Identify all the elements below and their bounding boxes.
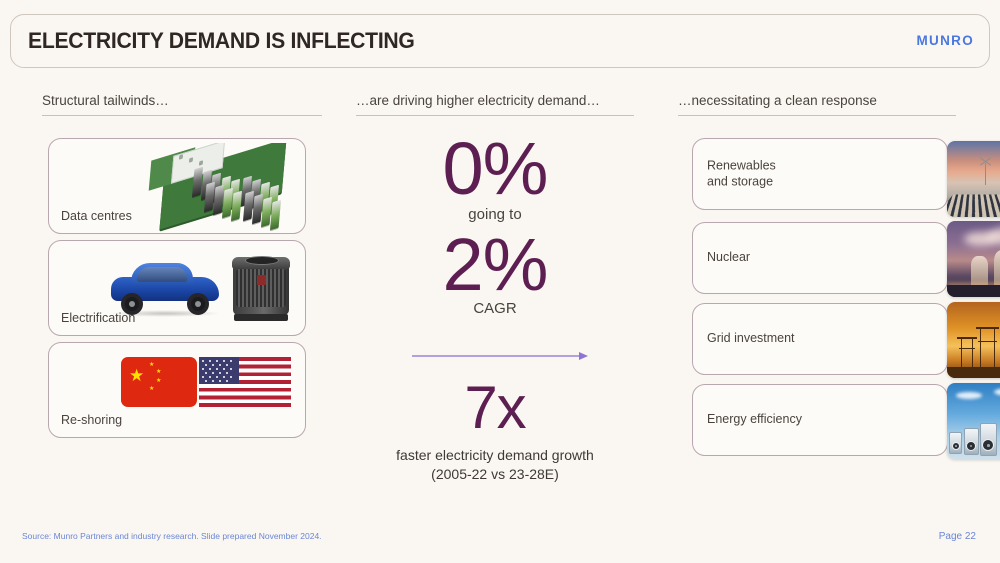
card-label: Grid investment xyxy=(707,331,795,347)
card-label: Re-shoring xyxy=(61,413,122,429)
column-heading-clean-response: …necessitating a clean response xyxy=(678,93,956,116)
caption-line-2: (2005-22 vs 23-28E) xyxy=(325,465,665,484)
solar-wind-farm-photo xyxy=(947,141,1000,217)
column-heading-electricity-demand: …are driving higher electricity demand… xyxy=(356,93,634,116)
page-title: ELECTRICITY DEMAND IS INFLECTING xyxy=(28,28,415,54)
footer-source: Source: Munro Partners and industry rese… xyxy=(22,531,322,541)
transmission-grid-photo xyxy=(947,302,1000,378)
usa-flag-icon xyxy=(199,357,291,407)
stat-two-percent: 2% xyxy=(356,228,634,302)
card-label: Renewables and storage xyxy=(707,158,776,189)
stat-caption: faster electricity demand growth (2005-2… xyxy=(325,446,665,484)
column-heading-structural-tailwinds: Structural tailwinds… xyxy=(42,93,322,116)
card-label-line-2: and storage xyxy=(707,174,776,190)
china-flag-icon: ★ ★ ★ ★ ★ xyxy=(121,357,197,407)
card-grid-investment[interactable]: Grid investment xyxy=(692,303,948,375)
munro-logo: MUNRO xyxy=(917,33,975,48)
card-label: Electrification xyxy=(61,311,135,327)
card-label: Data centres xyxy=(61,209,132,225)
card-renewables-and-storage[interactable]: Renewables and storage xyxy=(692,138,948,210)
card-label: Energy efficiency xyxy=(707,412,802,428)
electric-vehicle-icon xyxy=(109,261,221,313)
hvac-array-photo xyxy=(947,383,1000,459)
caption-line-1: faster electricity demand growth xyxy=(325,446,665,465)
growth-arrow-icon xyxy=(412,350,588,362)
card-energy-efficiency[interactable]: Energy efficiency xyxy=(692,384,948,456)
card-nuclear[interactable]: Nuclear xyxy=(692,222,948,294)
stat-two-sublabel: CAGR xyxy=(356,300,634,317)
stat-one-sublabel: going to xyxy=(356,206,634,223)
stat-zero-percent: 0% xyxy=(356,132,634,206)
card-data-centres[interactable]: Data centres xyxy=(48,138,306,234)
nuclear-plant-photo xyxy=(947,221,1000,297)
slide-root: ELECTRICITY DEMAND IS INFLECTING MUNRO S… xyxy=(0,0,1000,563)
card-re-shoring[interactable]: ★ ★ ★ ★ ★ xyxy=(48,342,306,438)
card-electrification[interactable]: Electrification xyxy=(48,240,306,336)
card-label: Nuclear xyxy=(707,250,750,266)
card-label-line-1: Renewables xyxy=(707,158,776,174)
heat-pump-icon xyxy=(233,255,289,321)
stat-seven-times: 7x xyxy=(356,378,634,438)
data-centre-icon xyxy=(143,143,311,233)
footer-page-number: Page 22 xyxy=(939,531,976,542)
